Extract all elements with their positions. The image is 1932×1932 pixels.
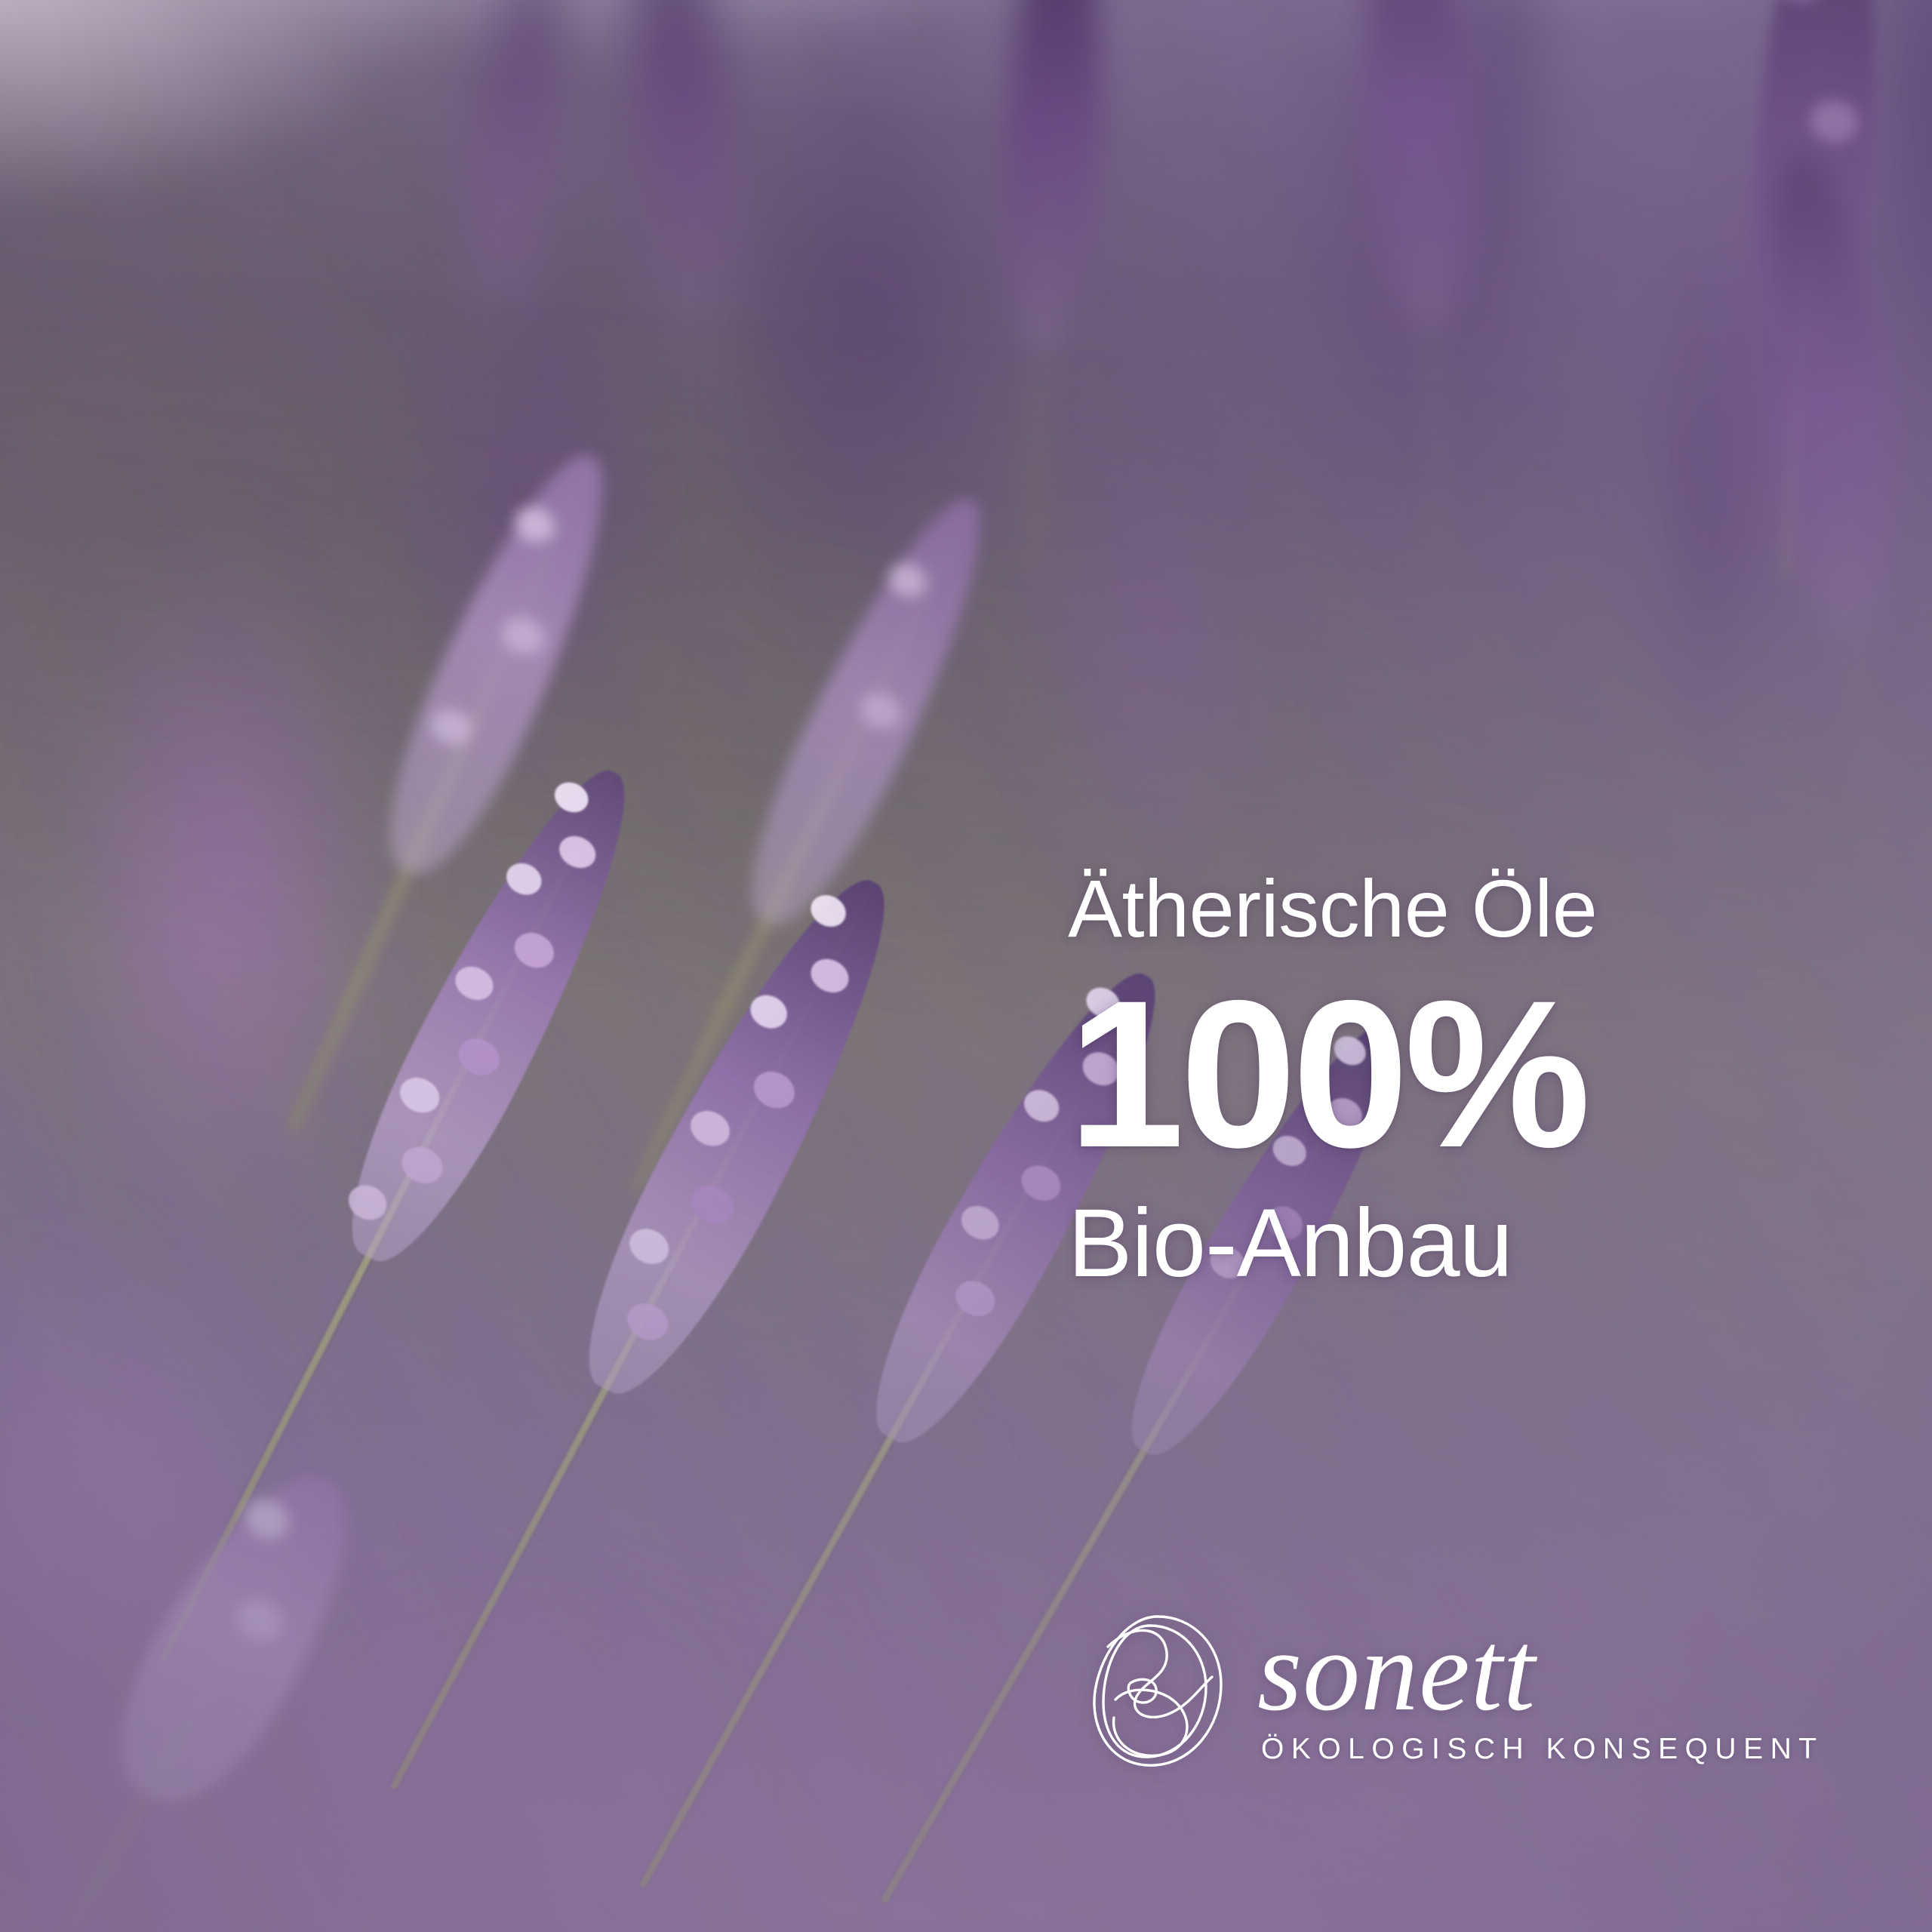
overlay-copy-block: Ätherische Öle 100% Bio-Anbau [1068,868,1672,1292]
sonett-wordmark: sonett ÖKOLOGISCH KONSEQUENT [1257,1619,1824,1764]
subline-text: Bio-Anbau [1068,1195,1672,1292]
advertisement-canvas: Ätherische Öle 100% Bio-Anbau sonett ÖKO… [0,0,1932,1932]
eyebrow-text: Ätherische Öle [1068,868,1672,949]
sonett-tagline: ÖKOLOGISCH KONSEQUENT [1261,1734,1824,1764]
headline-text: 100% [1068,969,1672,1179]
sonett-logo: sonett ÖKOLOGISCH KONSEQUENT [1085,1612,1824,1770]
sonett-name: sonett [1257,1619,1824,1724]
sonett-loop-mark-icon [1085,1612,1232,1770]
